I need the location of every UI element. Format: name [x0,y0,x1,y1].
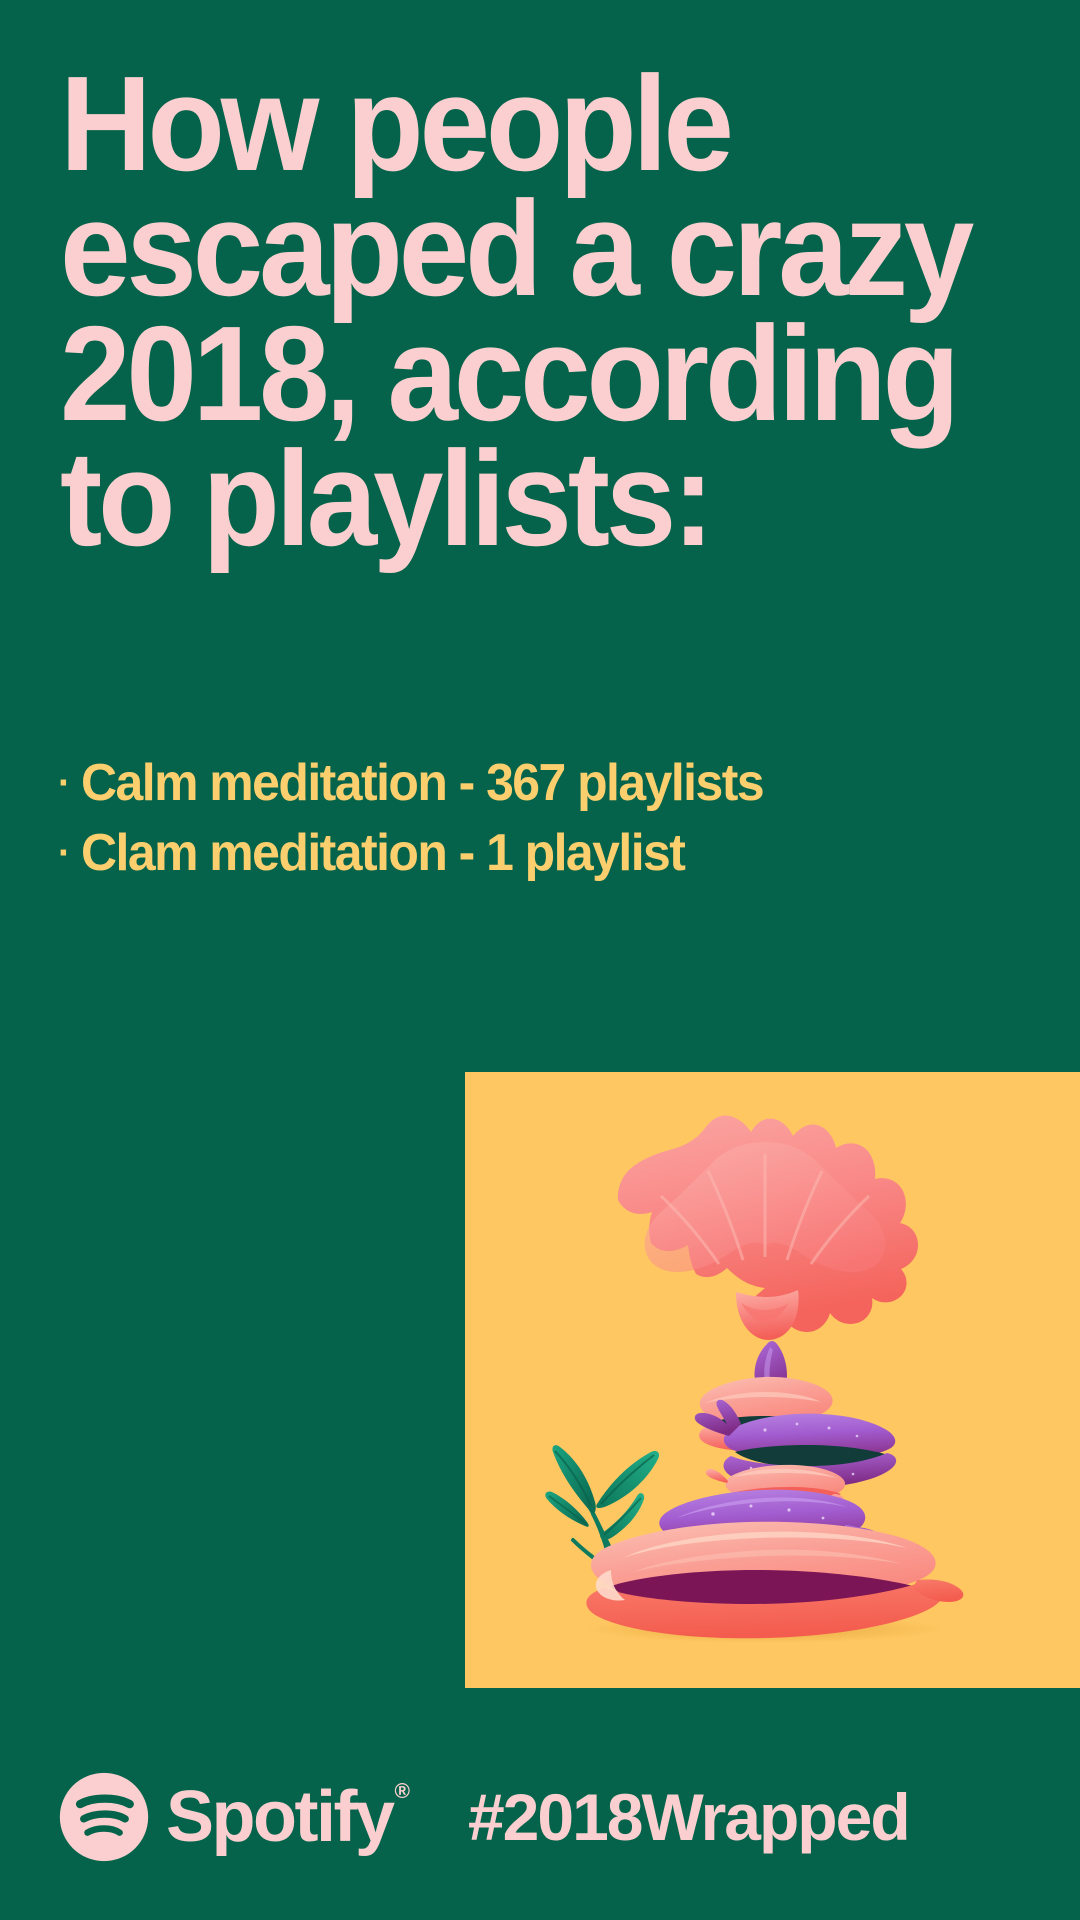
spotify-logo-icon[interactable] [58,1771,150,1863]
headline-line-4: to playlists: [60,437,981,562]
clam-shell-stack-illustration [465,1072,1080,1688]
poster-canvas: How people escaped a crazy 2018, accordi… [0,0,1080,1920]
footer: Spotify® #2018Wrapped [58,1752,1058,1882]
headline-line-1: How people [60,62,981,187]
spotify-lockup[interactable]: Spotify® [58,1771,408,1863]
list-item-label: Calm meditation - 367 playlists [81,748,763,818]
artwork-panel [465,1072,1080,1688]
spotify-brand-name: Spotify [166,1777,392,1857]
list-item: · Clam meditation - 1 playlist [58,818,1018,888]
headline-line-2: escaped a crazy [60,187,981,312]
list-item: · Calm meditation - 367 playlists [58,748,1018,818]
page-title: How people escaped a crazy 2018, accordi… [60,62,981,562]
spotify-wordmark: Spotify® [166,1781,408,1853]
headline-line-3: 2018, according [60,312,981,437]
campaign-hashtag: #2018Wrapped [468,1784,909,1850]
registered-trademark-icon: ® [394,1780,409,1803]
stats-bullet-list: · Calm meditation - 367 playlists · Clam… [58,748,1018,888]
bullet-dot-icon: · [58,763,81,803]
list-item-label: Clam meditation - 1 playlist [81,818,684,888]
bullet-dot-icon: · [58,833,81,873]
